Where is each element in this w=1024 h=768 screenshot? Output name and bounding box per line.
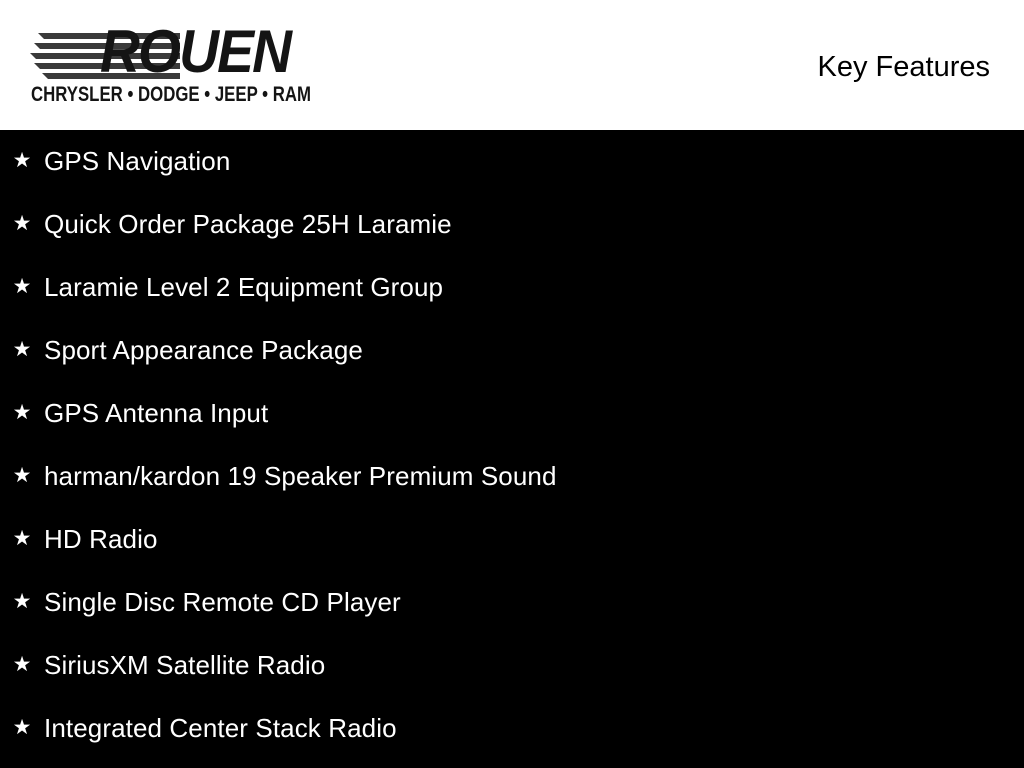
key-features-list: ★GPS Navigation★Quick Order Package 25H … bbox=[0, 130, 1024, 768]
feature-list-item: ★GPS Antenna Input bbox=[0, 381, 1024, 444]
feature-list-item: ★SiriusXM Satellite Radio bbox=[0, 633, 1024, 696]
star-bullet-icon: ★ bbox=[12, 212, 32, 236]
feature-list-item: ★Laramie Level 2 Equipment Group bbox=[0, 255, 1024, 318]
star-bullet-icon: ★ bbox=[12, 653, 32, 677]
star-bullet-icon: ★ bbox=[12, 464, 32, 488]
logo-wordmark: ROUEN bbox=[100, 22, 290, 82]
star-bullet-icon: ★ bbox=[12, 527, 32, 551]
dealer-logo[interactable]: ROUEN CHRYSLER • DODGE • JEEP • RAM bbox=[30, 26, 302, 106]
feature-label: GPS Navigation bbox=[44, 146, 230, 176]
feature-label: HD Radio bbox=[44, 524, 158, 554]
logo-brand-line: CHRYSLER • DODGE • JEEP • RAM bbox=[31, 83, 311, 106]
feature-list-item: ★Single Disc Remote CD Player bbox=[0, 570, 1024, 633]
feature-label: Integrated Center Stack Radio bbox=[44, 713, 397, 743]
feature-list-item: ★GPS Navigation bbox=[0, 130, 1024, 192]
feature-list-item: ★Sport Appearance Package bbox=[0, 318, 1024, 381]
feature-list-item: ★HD Radio bbox=[0, 507, 1024, 570]
feature-label: Sport Appearance Package bbox=[44, 335, 363, 365]
logo-mark: ROUEN bbox=[30, 26, 302, 84]
star-bullet-icon: ★ bbox=[12, 149, 32, 173]
star-bullet-icon: ★ bbox=[12, 716, 32, 740]
page-header: ROUEN CHRYSLER • DODGE • JEEP • RAM Key … bbox=[0, 0, 1024, 130]
feature-label: Single Disc Remote CD Player bbox=[44, 587, 401, 617]
key-features-page: ROUEN CHRYSLER • DODGE • JEEP • RAM Key … bbox=[0, 0, 1024, 768]
star-bullet-icon: ★ bbox=[12, 590, 32, 614]
feature-list-item: ★Integrated Center Stack Radio bbox=[0, 696, 1024, 759]
star-bullet-icon: ★ bbox=[12, 338, 32, 362]
feature-label: SiriusXM Satellite Radio bbox=[44, 650, 325, 680]
feature-list-item: ★harman/kardon 19 Speaker Premium Sound bbox=[0, 444, 1024, 507]
feature-label: harman/kardon 19 Speaker Premium Sound bbox=[44, 461, 557, 491]
page-title: Key Features bbox=[818, 50, 990, 84]
star-bullet-icon: ★ bbox=[12, 275, 32, 299]
feature-label: Laramie Level 2 Equipment Group bbox=[44, 272, 443, 302]
star-bullet-icon: ★ bbox=[12, 401, 32, 425]
feature-label: GPS Antenna Input bbox=[44, 398, 268, 428]
feature-list-item: ★Quick Order Package 25H Laramie bbox=[0, 192, 1024, 255]
feature-label: Quick Order Package 25H Laramie bbox=[44, 209, 452, 239]
